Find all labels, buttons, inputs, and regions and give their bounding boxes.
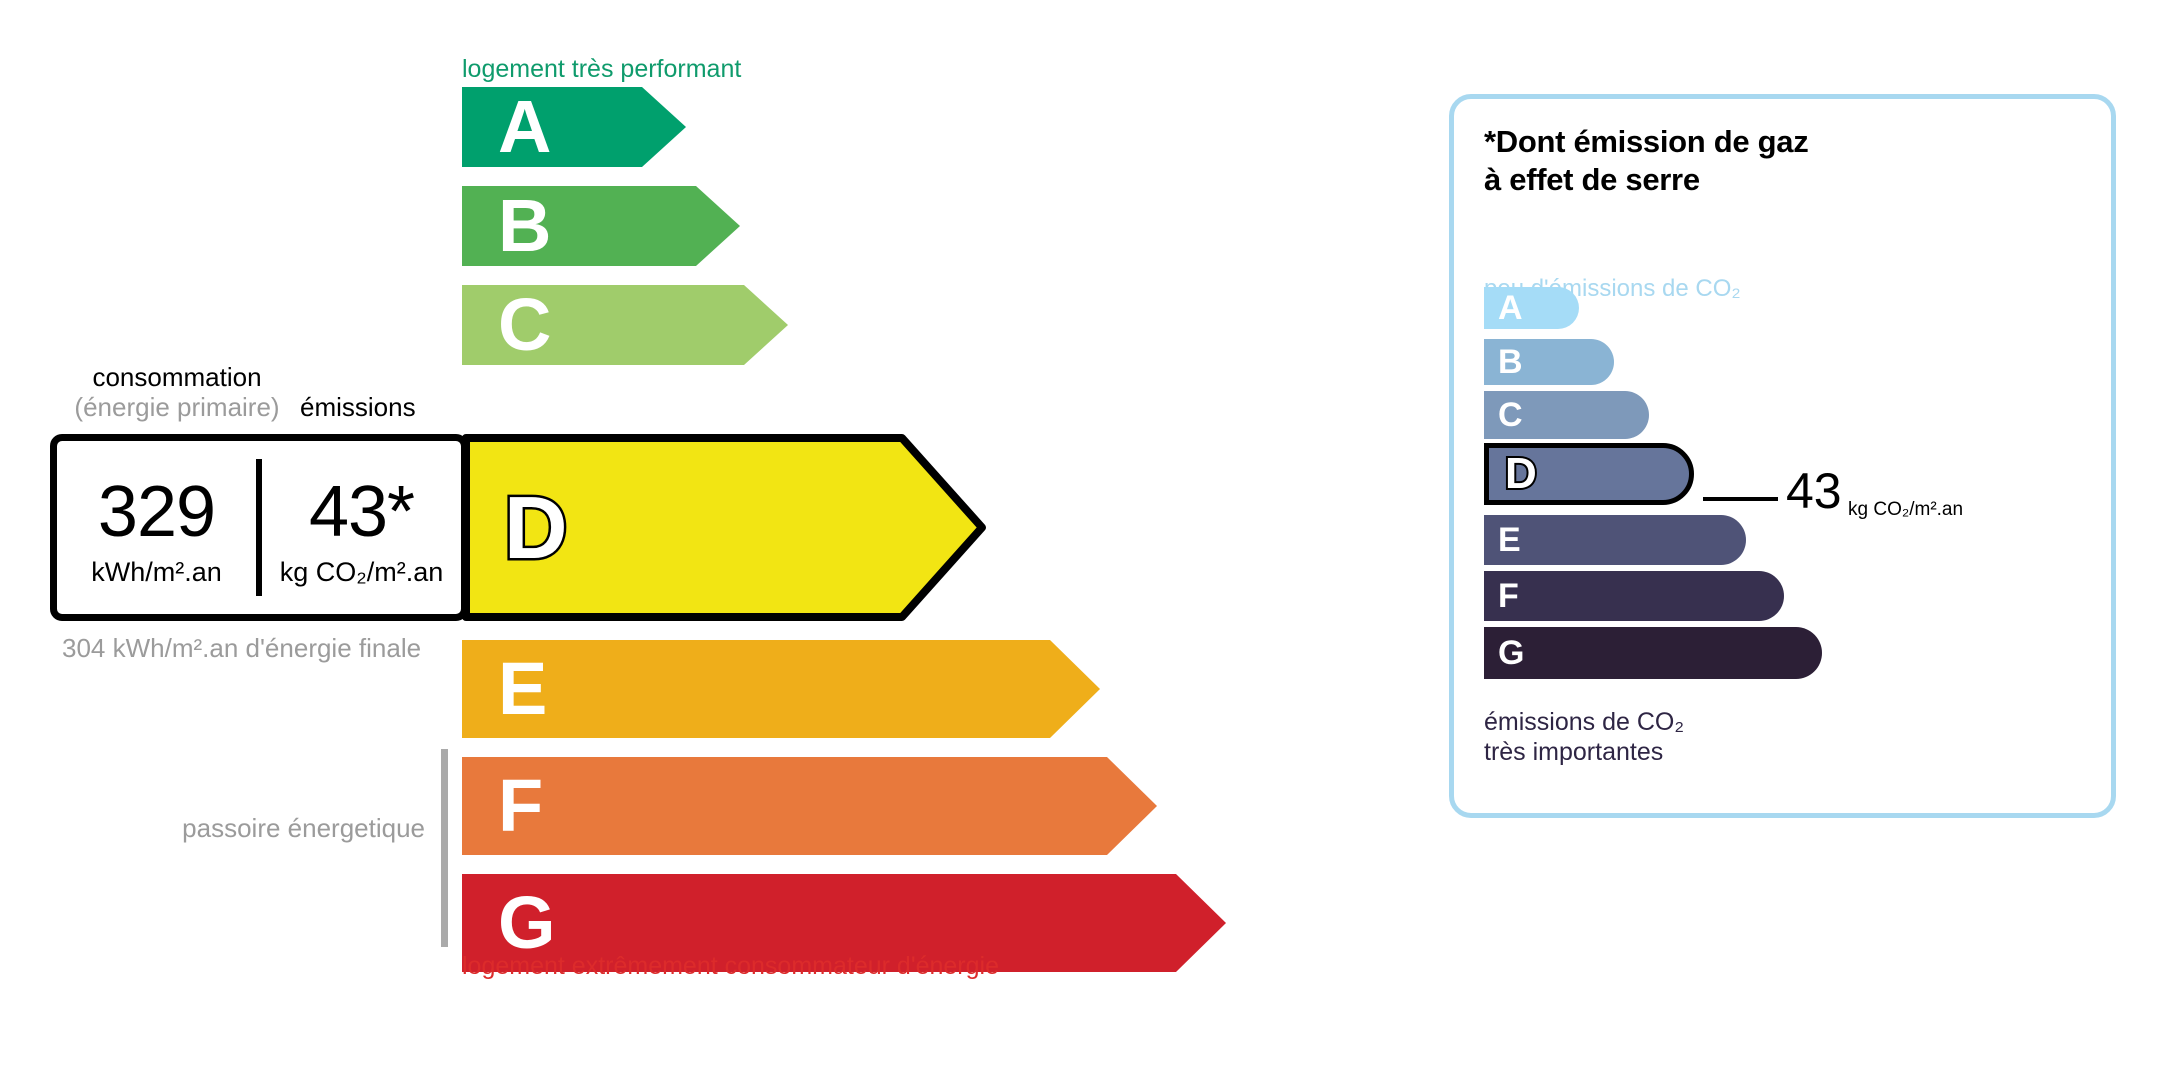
co2-bar-letter-f: F — [1498, 579, 1519, 613]
co2-bar-c: C — [1484, 391, 1649, 439]
dpe-energy-scale-panel: logement très performant ABCDEFG logemen… — [0, 0, 1400, 1079]
co2-bar-d: D — [1484, 443, 1694, 505]
co2-bar-shape: D — [1484, 443, 1694, 505]
band-arrow-shape: A — [462, 87, 686, 167]
consumption-value: 329 — [98, 476, 215, 548]
scale-top-caption: logement très performant — [462, 55, 741, 84]
band-letter-b: B — [498, 189, 551, 263]
co2-callout-value: 43 — [1786, 466, 1842, 516]
consumption-label: consommation (énergie primaire) — [62, 363, 292, 423]
band-letter-e: E — [498, 652, 547, 726]
consumption-value-cell: 329 kWh/m².an — [57, 441, 256, 614]
band-arrow-shape: C — [462, 285, 788, 365]
consumption-unit: kWh/m².an — [91, 559, 222, 586]
band-arrow-shape: D — [462, 434, 986, 621]
co2-callout-unit: kg CO₂/m².an — [1848, 500, 1963, 519]
co2-bar-b: B — [1484, 339, 1614, 385]
co2-panel-title: *Dont émission de gaz à effet de serre — [1484, 123, 1808, 199]
co2-bar-letter-g: G — [1498, 636, 1524, 670]
co2-bar-g: G — [1484, 627, 1822, 679]
consumption-label-main: consommation — [92, 362, 261, 392]
band-letter-g: G — [498, 886, 556, 960]
band-arrow-shape: F — [462, 757, 1157, 855]
co2-bar-shape: B — [1484, 339, 1614, 385]
energy-band-c: C — [462, 285, 788, 365]
energy-band-d: D — [462, 434, 986, 621]
co2-bar-letter-e: E — [1498, 523, 1521, 557]
co2-bar-shape: F — [1484, 571, 1784, 621]
scale-bottom-caption: logement extrêmement consommateur d'éner… — [462, 952, 999, 981]
emissions-unit: kg CO₂/m².an — [280, 559, 444, 586]
band-letter-d: D — [504, 484, 568, 572]
final-energy-note: 304 kWh/m².an d'énergie finale — [62, 632, 421, 665]
emissions-label: émissions — [300, 392, 416, 423]
consumption-label-sub: (énergie primaire) — [62, 393, 292, 423]
energy-band-b: B — [462, 186, 740, 266]
co2-bar-shape: G — [1484, 627, 1822, 679]
co2-bar-shape: A — [1484, 287, 1579, 329]
emissions-value: 43* — [309, 476, 414, 548]
value-box: 329 kWh/m².an 43* kg CO₂/m².an — [50, 434, 468, 621]
band-letter-f: F — [498, 769, 543, 843]
co2-bottom-caption: émissions de CO₂ très importantes — [1484, 707, 1684, 767]
band-arrow-shape: B — [462, 186, 740, 266]
emissions-value-cell: 43* kg CO₂/m².an — [262, 441, 461, 614]
co2-bar-shape: E — [1484, 515, 1746, 565]
co2-bar-letter-c: C — [1498, 398, 1523, 432]
passoire-bracket — [441, 749, 448, 947]
co2-callout-leader-line — [1703, 497, 1778, 501]
co2-emissions-panel: *Dont émission de gaz à effet de serre p… — [1449, 94, 2116, 818]
energy-band-e: E — [462, 640, 1100, 738]
co2-bar-letter-b: B — [1498, 345, 1523, 379]
band-letter-a: A — [498, 90, 551, 164]
passoire-label: passoire énergetique — [180, 812, 425, 845]
co2-bar-f: F — [1484, 571, 1784, 621]
co2-bar-a: A — [1484, 287, 1579, 329]
co2-bar-shape: C — [1484, 391, 1649, 439]
energy-band-f: F — [462, 757, 1157, 855]
band-arrow-shape: E — [462, 640, 1100, 738]
co2-bar-e: E — [1484, 515, 1746, 565]
co2-bar-letter-d: D — [1505, 452, 1537, 496]
energy-band-a: A — [462, 87, 686, 167]
band-letter-c: C — [498, 288, 551, 362]
co2-bar-letter-a: A — [1498, 291, 1523, 325]
